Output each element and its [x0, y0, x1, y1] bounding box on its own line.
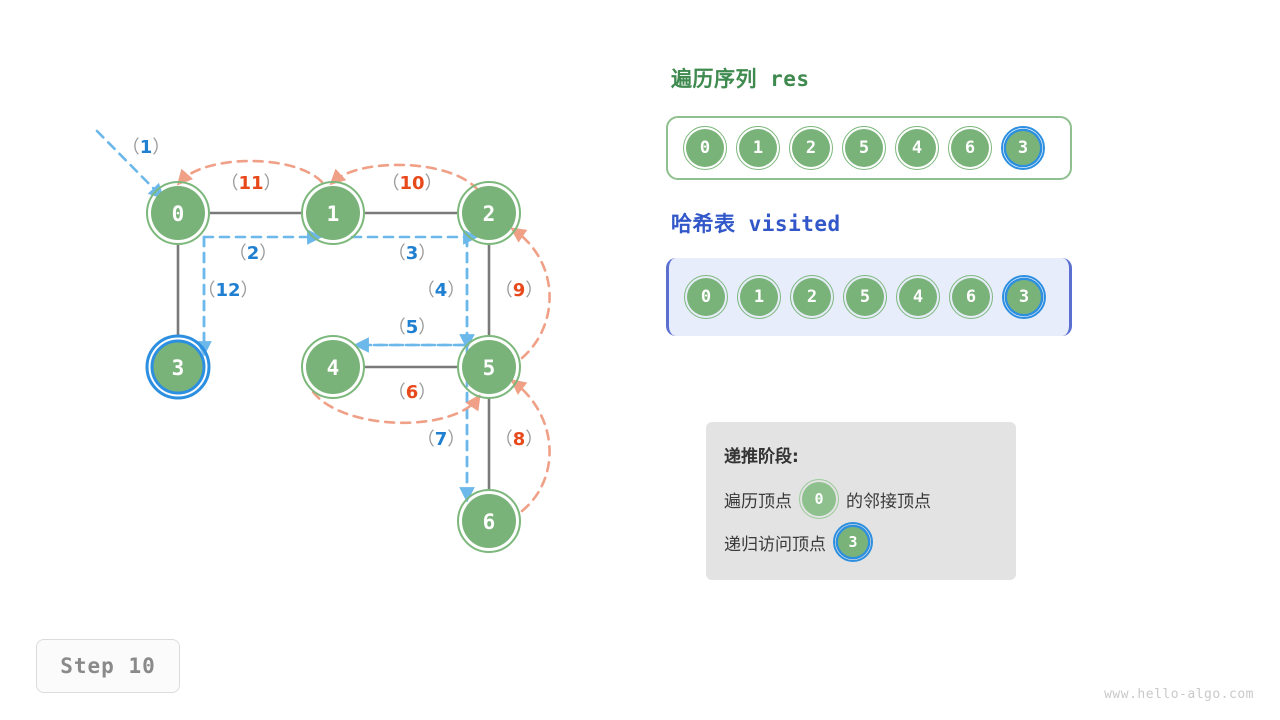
graph-node-6-label: 6 [483, 510, 496, 534]
step-label-9: （9） [495, 280, 544, 301]
visited-item-label: 0 [687, 278, 725, 316]
res-item[interactable]: 1 [736, 126, 780, 170]
res-item[interactable]: 0 [683, 126, 727, 170]
step-label-11: （11） [220, 173, 281, 194]
res-item[interactable]: 4 [895, 126, 939, 170]
res-section-title: 遍历序列 res [671, 63, 810, 93]
graph-node-4-label: 4 [327, 356, 340, 380]
step-label-8: （8） [495, 429, 544, 450]
step-label-5: （5） [388, 317, 437, 338]
step-label-7: （7） [417, 429, 466, 450]
res-item-label: 5 [845, 129, 883, 167]
phase-info-box: 递推阶段: 遍历顶点 0 的邻接顶点 递归访问顶点 3 [706, 422, 1016, 580]
res-item-highlighted[interactable]: 3 [1001, 126, 1045, 170]
visited-item-label: 2 [793, 278, 831, 316]
phase-info-node-current-label: 0 [802, 482, 836, 516]
graph-panel: 0 1 2 3 4 [0, 0, 640, 640]
phase-info-node-visiting: 3 [833, 522, 873, 562]
graph-node-3-label: 3 [172, 356, 185, 380]
visited-item[interactable]: 2 [790, 275, 834, 319]
res-item[interactable]: 6 [948, 126, 992, 170]
graph-node-1-label: 1 [327, 202, 340, 226]
phase-info-node-visiting-label: 3 [838, 527, 868, 557]
graph-node-4[interactable]: 4 [302, 336, 364, 398]
visited-item-highlighted[interactable]: 3 [1002, 275, 1046, 319]
phase-info-node-current: 0 [799, 479, 839, 519]
phase-info-line-2-prefix: 递归访问顶点 [724, 530, 826, 555]
step-label-10: （10） [381, 173, 442, 194]
step-label-6: （6） [388, 382, 437, 403]
res-item-label: 2 [792, 129, 830, 167]
visited-item-label: 4 [899, 278, 937, 316]
res-item-label: 3 [1006, 131, 1040, 165]
visited-item[interactable]: 4 [896, 275, 940, 319]
phase-info-line-1-suffix: 的邻接顶点 [846, 487, 931, 512]
graph-node-5-label: 5 [483, 356, 496, 380]
graph-node-1[interactable]: 1 [302, 182, 364, 244]
visited-item[interactable]: 6 [949, 275, 993, 319]
visited-item-label: 5 [846, 278, 884, 316]
graph-node-0[interactable]: 0 [147, 182, 209, 244]
visited-list-container: 0 1 2 5 4 6 3 [666, 258, 1072, 336]
graph-canvas: 0 1 2 3 4 [0, 0, 640, 640]
graph-node-2-label: 2 [483, 202, 496, 226]
phase-info-line-1: 遍历顶点 0 的邻接顶点 [724, 482, 1016, 516]
graph-node-3[interactable]: 3 [147, 336, 209, 398]
visited-item-label: 3 [1007, 280, 1041, 314]
res-item-label: 6 [951, 129, 989, 167]
right-panel: 遍历序列 res 0 1 2 5 4 6 3 哈希表 visited 0 1 2… [666, 0, 1266, 720]
watermark: www.hello-algo.com [1104, 687, 1254, 702]
visited-item[interactable]: 0 [684, 275, 728, 319]
step-label-4: （4） [417, 280, 466, 301]
step-label-12: （12） [197, 280, 258, 301]
visited-item[interactable]: 1 [737, 275, 781, 319]
phase-info-line-1-prefix: 遍历顶点 [724, 487, 792, 512]
res-item-label: 4 [898, 129, 936, 167]
phase-info-title: 递推阶段: [724, 442, 1016, 467]
step-label-2: （2） [229, 243, 278, 264]
res-list-container: 0 1 2 5 4 6 3 [666, 116, 1072, 180]
step-label-1: （1） [122, 137, 171, 158]
res-item-label: 0 [686, 129, 724, 167]
res-item-label: 1 [739, 129, 777, 167]
phase-info-line-2: 递归访问顶点 3 [724, 525, 1016, 559]
graph-node-6[interactable]: 6 [458, 490, 520, 552]
step-label-3: （3） [388, 243, 437, 264]
visited-item[interactable]: 5 [843, 275, 887, 319]
graph-node-0-label: 0 [172, 202, 185, 226]
graph-node-2[interactable]: 2 [458, 182, 520, 244]
visited-item-label: 1 [740, 278, 778, 316]
res-item[interactable]: 5 [842, 126, 886, 170]
step-badge: Step 10 [36, 639, 180, 693]
res-item[interactable]: 2 [789, 126, 833, 170]
visited-section-title: 哈希表 visited [671, 208, 841, 238]
visited-item-label: 6 [952, 278, 990, 316]
graph-node-5[interactable]: 5 [458, 336, 520, 398]
